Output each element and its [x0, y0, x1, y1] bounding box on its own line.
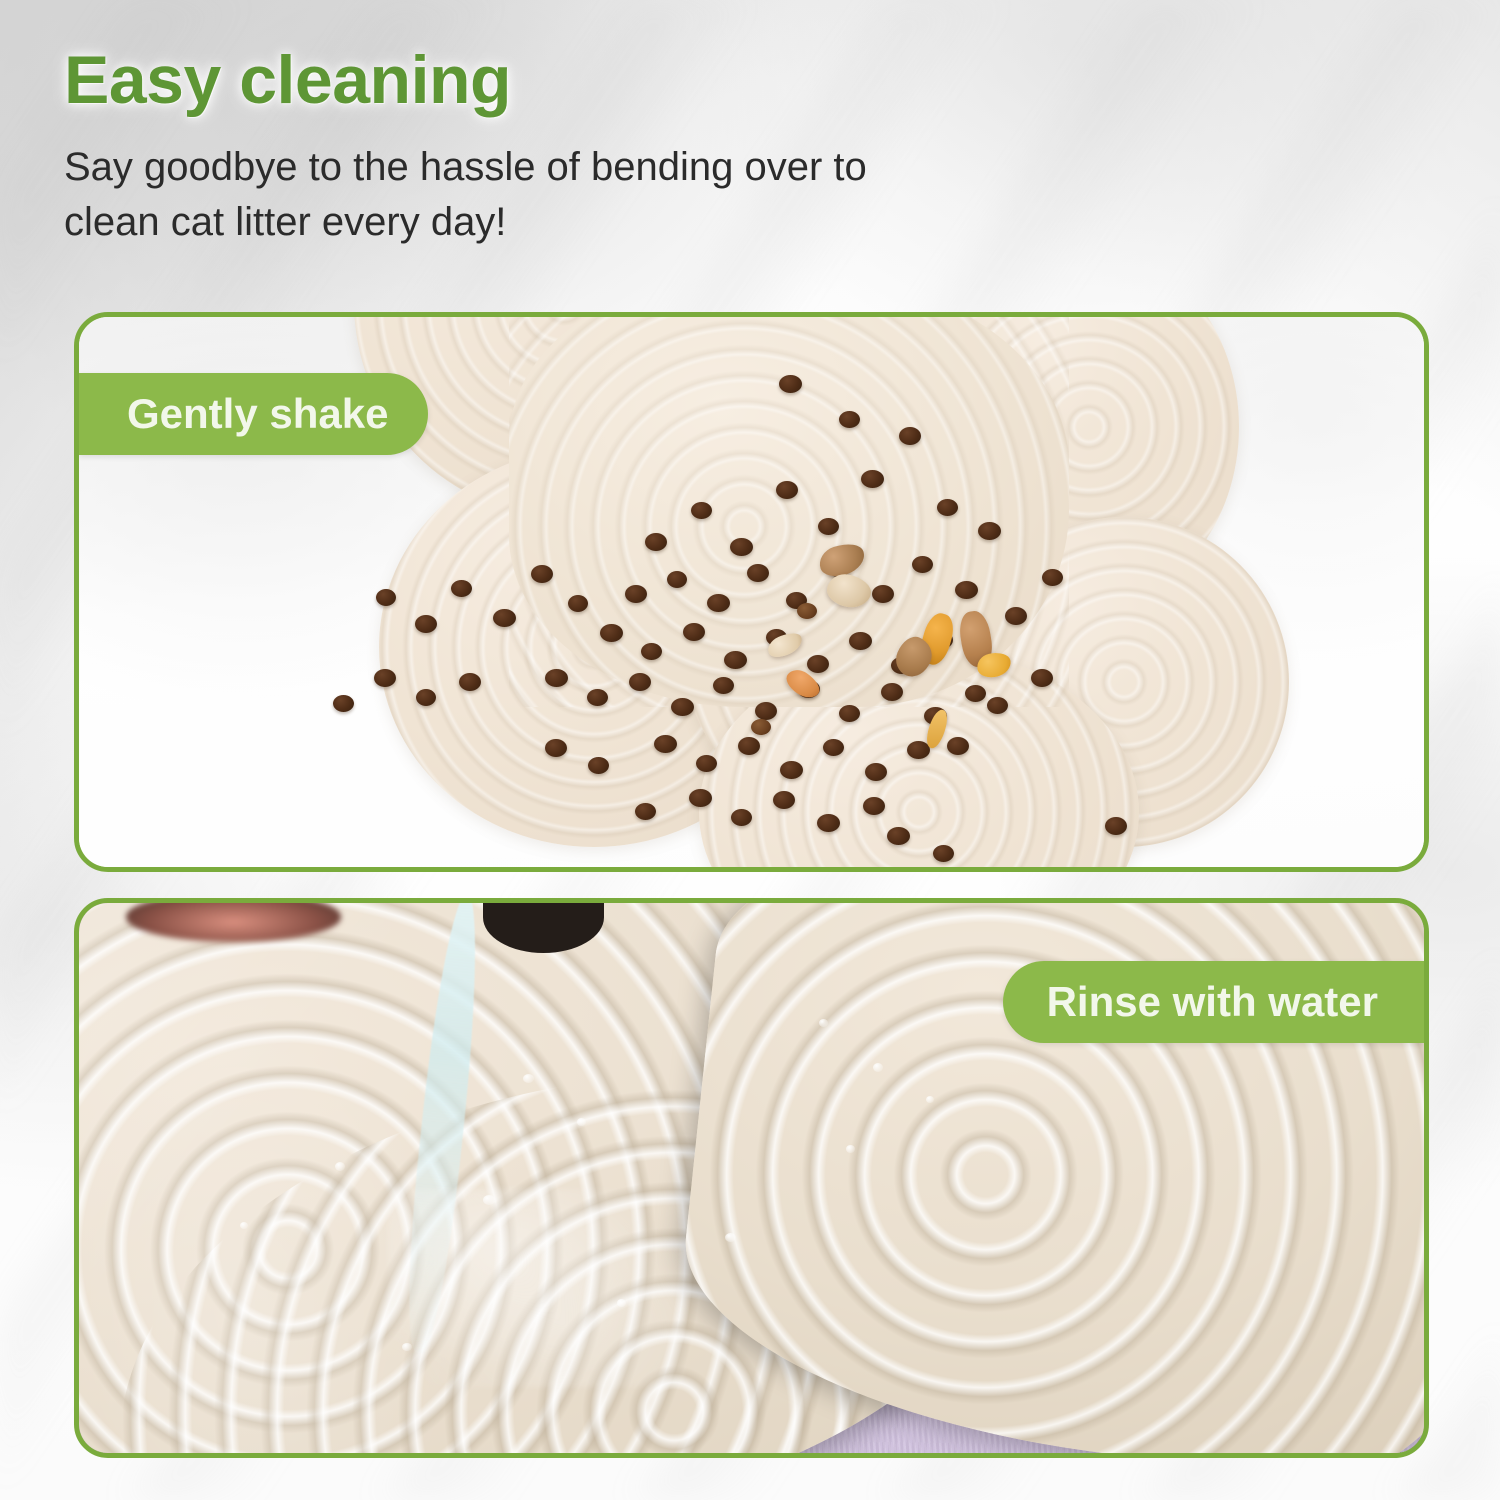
- kibble-piece: [333, 695, 354, 712]
- kibble-piece: [645, 533, 667, 551]
- kibble-piece: [730, 538, 753, 556]
- water-droplet: [577, 1118, 586, 1126]
- kibble-piece: [751, 719, 771, 735]
- kibble-piece: [713, 677, 734, 694]
- kibble-piece: [978, 522, 1001, 540]
- kibble-piece: [667, 571, 687, 588]
- kibble-piece: [635, 803, 656, 820]
- water-droplet: [846, 1145, 855, 1153]
- water-droplet: [617, 1299, 626, 1307]
- kibble-piece: [724, 651, 747, 669]
- water-droplet: [819, 1019, 828, 1027]
- kibble-piece: [625, 585, 647, 603]
- panel-gently-shake: Gently shake: [74, 312, 1429, 872]
- kibble-piece: [861, 470, 884, 488]
- kibble-piece: [1005, 607, 1027, 625]
- kibble-piece: [1031, 669, 1053, 687]
- kibble-piece: [881, 683, 903, 701]
- kibble-piece: [899, 427, 921, 445]
- water-droplet: [523, 1074, 534, 1083]
- kibble-piece: [807, 655, 829, 673]
- water-droplet: [402, 1343, 412, 1351]
- kibble-piece: [641, 643, 662, 660]
- kibble-piece: [689, 789, 712, 807]
- kibble-piece: [839, 705, 860, 722]
- kibble-piece: [747, 564, 769, 582]
- badge-gently-shake: Gently shake: [79, 373, 428, 455]
- kibble-piece: [872, 585, 894, 603]
- header: Easy cleaning Say goodbye to the hassle …: [64, 44, 1124, 250]
- kibble-piece: [779, 375, 802, 393]
- kibble-piece: [459, 673, 481, 691]
- panel-rinse-with-water: Rinse with water: [74, 898, 1429, 1458]
- kibble-piece: [415, 615, 437, 633]
- kibble-piece: [531, 565, 553, 583]
- kibble-piece: [937, 499, 958, 516]
- kibble-piece: [671, 698, 694, 716]
- kibble-piece: [863, 797, 885, 815]
- water-droplet: [926, 1096, 934, 1103]
- kibble-piece: [1105, 817, 1127, 835]
- kibble-piece: [545, 739, 567, 757]
- kibble-piece: [817, 814, 840, 832]
- kibble-piece: [773, 791, 795, 809]
- badge-rinse-with-water: Rinse with water: [1003, 961, 1424, 1043]
- kibble-piece: [545, 669, 568, 687]
- page-title: Easy cleaning: [64, 44, 1124, 116]
- page-subtitle-line-2: clean cat litter every day!: [64, 195, 1064, 250]
- kibble-piece: [776, 481, 798, 499]
- kibble-piece: [707, 594, 730, 612]
- kibble-piece: [600, 624, 623, 642]
- kibble-piece: [818, 518, 839, 535]
- kibble-piece: [987, 697, 1008, 714]
- water-droplet: [335, 1162, 345, 1171]
- kibble-piece: [587, 689, 608, 706]
- kibble-piece: [797, 603, 817, 619]
- water-splash: [388, 1189, 684, 1387]
- kibble-piece: [731, 809, 752, 826]
- kibble-piece: [887, 827, 910, 845]
- kibble-piece: [696, 755, 717, 772]
- water-droplet: [725, 1233, 736, 1242]
- kibble-piece: [865, 763, 887, 781]
- kibble-piece: [965, 685, 986, 702]
- kibble-piece: [493, 609, 516, 627]
- kibble-piece: [416, 689, 436, 706]
- kibble-piece: [376, 589, 396, 606]
- kibble-piece: [912, 556, 933, 573]
- kibble-piece: [947, 737, 969, 755]
- kibble-piece: [654, 735, 677, 753]
- kibble-piece: [839, 411, 860, 428]
- page-subtitle-line-1: Say goodbye to the hassle of bending ove…: [64, 140, 1064, 195]
- kibble-piece: [629, 673, 651, 691]
- kibble-piece: [691, 502, 712, 519]
- kibble-piece: [955, 581, 978, 599]
- kibble-piece: [823, 739, 844, 756]
- kibble-piece: [451, 580, 472, 597]
- page-subtitle: Say goodbye to the hassle of bending ove…: [64, 140, 1064, 250]
- kibble-piece: [738, 737, 760, 755]
- water-droplet: [483, 1195, 495, 1205]
- kibble-piece: [588, 757, 609, 774]
- kibble-piece: [374, 669, 396, 687]
- kibble-piece: [683, 623, 705, 641]
- kibble-piece: [568, 595, 588, 612]
- kibble-piece: [933, 845, 954, 862]
- kibble-piece: [1042, 569, 1063, 586]
- water-droplet: [873, 1063, 883, 1072]
- kibble-piece: [849, 632, 872, 650]
- kibble-piece: [780, 761, 803, 779]
- kibble-piece: [755, 702, 777, 720]
